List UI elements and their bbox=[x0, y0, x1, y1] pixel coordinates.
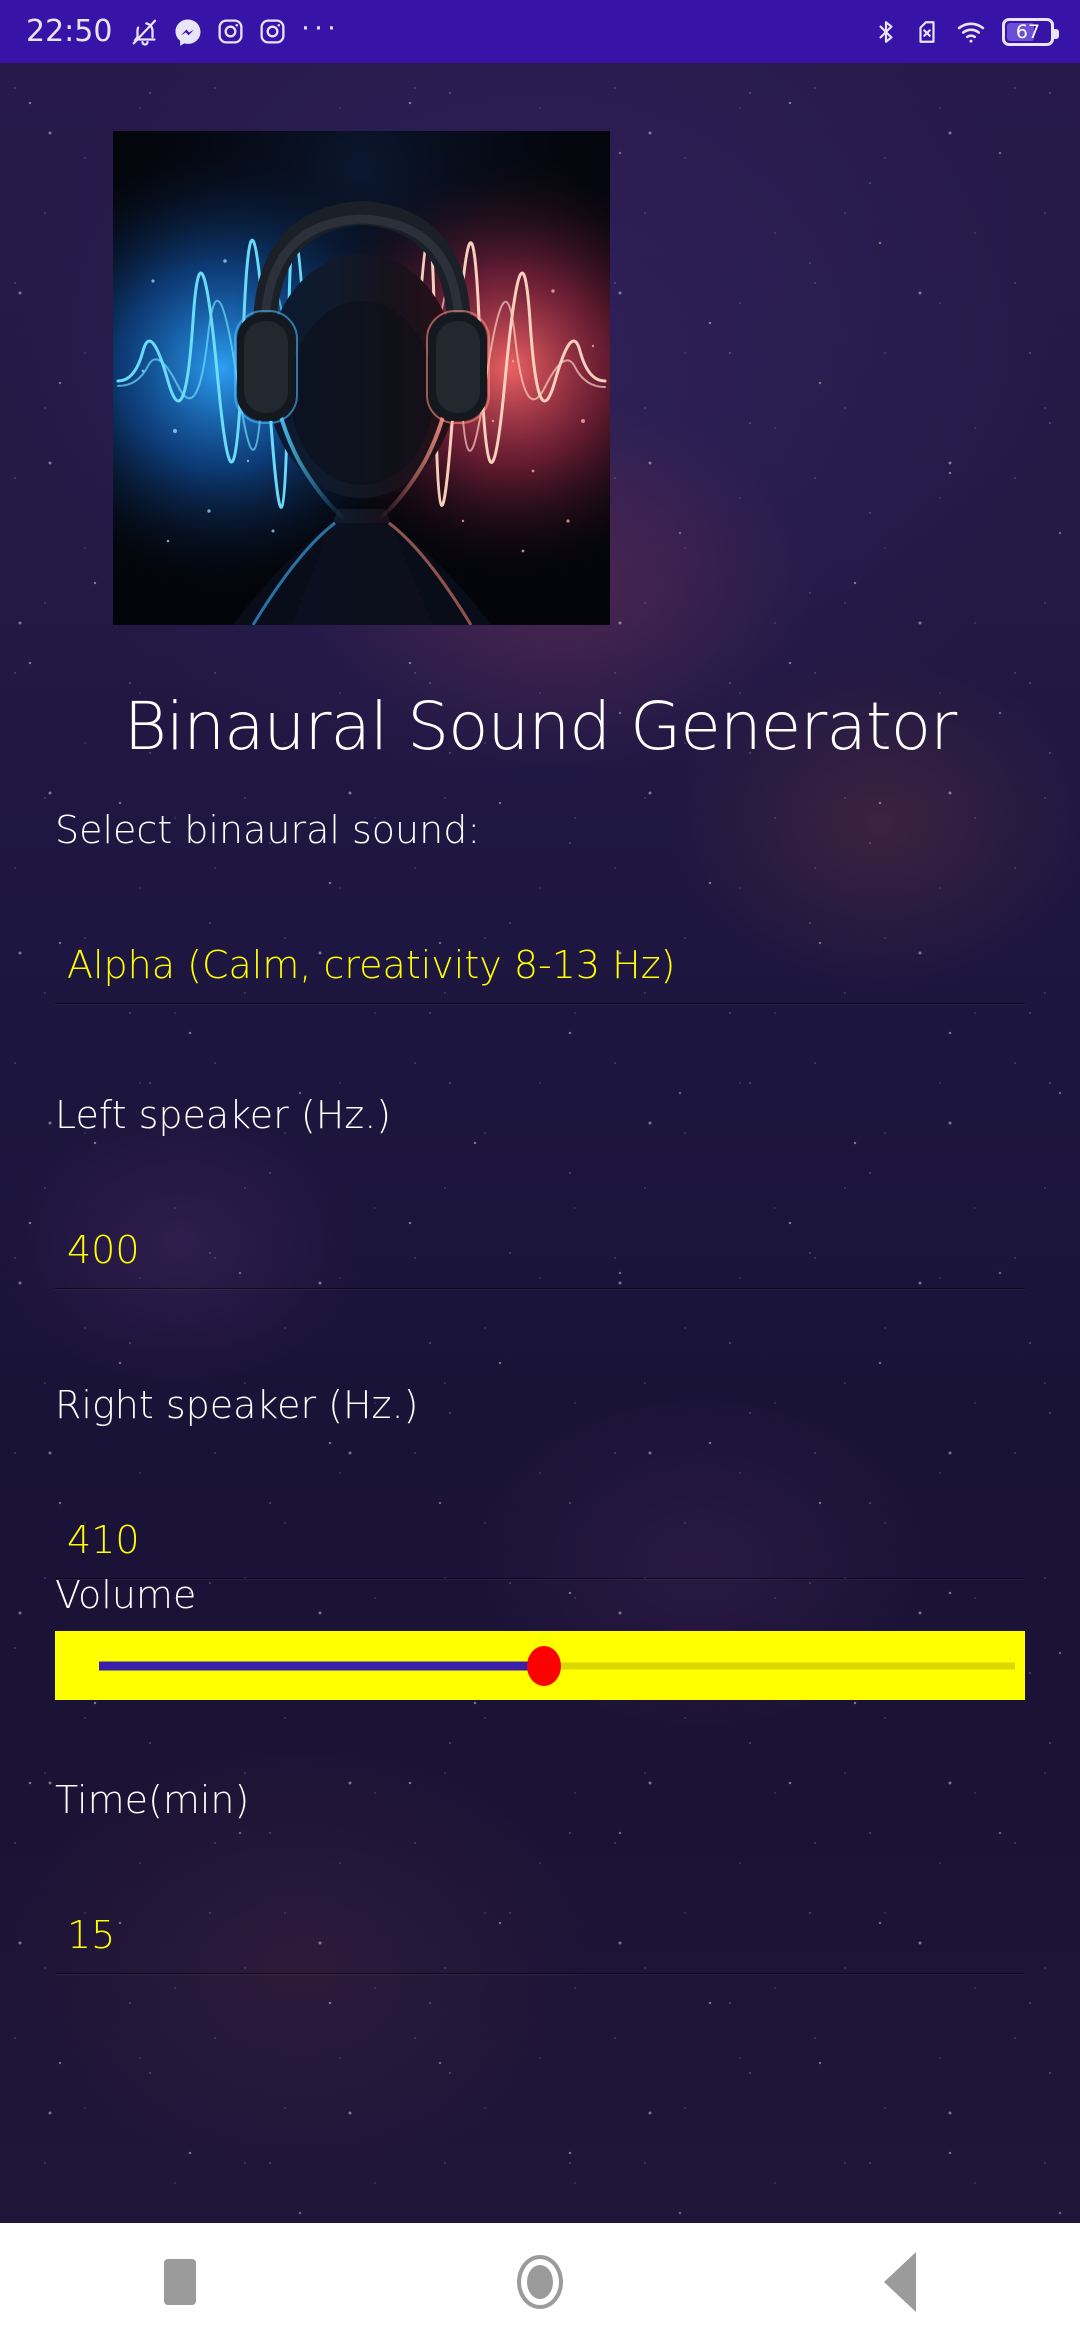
volume-slider[interactable] bbox=[55, 1631, 1025, 1700]
status-bar: 22:50 bbox=[0, 0, 1080, 63]
instagram-icon bbox=[258, 17, 287, 46]
sound-select-dropdown[interactable]: Alpha (Calm, creativity 8-13 Hz) bbox=[55, 943, 1025, 1004]
recents-square-icon bbox=[164, 2259, 196, 2305]
page-title: Binaural Sound Generator bbox=[0, 688, 1080, 765]
left-speaker-underline bbox=[55, 1288, 1025, 1289]
time-underline bbox=[55, 1973, 1025, 1974]
no-sim-icon bbox=[914, 17, 940, 47]
instagram-icon bbox=[216, 17, 245, 46]
volume-slider-thumb[interactable] bbox=[527, 1646, 561, 1686]
messenger-icon bbox=[173, 17, 203, 47]
battery-percent: 67 bbox=[1005, 21, 1051, 43]
field-sound-select: Select binaural sound: bbox=[55, 808, 1025, 852]
back-triangle-icon bbox=[884, 2252, 916, 2312]
overflow-dots-icon: ··· bbox=[300, 22, 339, 42]
home-circle-inner bbox=[527, 2265, 553, 2299]
battery-icon: 67 bbox=[1002, 18, 1054, 46]
status-bar-right: 67 bbox=[873, 17, 1054, 47]
android-nav-bar bbox=[0, 2223, 1080, 2340]
volume-track-fill bbox=[99, 1661, 535, 1670]
sound-select-label: Select binaural sound: bbox=[55, 808, 1025, 852]
field-volume: Volume bbox=[55, 1573, 1025, 1700]
time-input[interactable]: 15 bbox=[55, 1913, 1025, 1974]
left-speaker-input[interactable]: 400 bbox=[55, 1228, 1025, 1289]
bluetooth-icon bbox=[873, 17, 899, 47]
silent-bell-icon bbox=[130, 17, 160, 47]
sound-select-value[interactable]: Alpha (Calm, creativity 8-13 Hz) bbox=[55, 943, 1025, 987]
field-time: Time(min) bbox=[55, 1778, 1025, 1822]
right-speaker-value[interactable]: 410 bbox=[55, 1518, 1025, 1562]
hero-artwork-image bbox=[113, 131, 610, 625]
phone-screen: 22:50 bbox=[0, 0, 1080, 2340]
volume-label: Volume bbox=[55, 1573, 1025, 1617]
status-bar-left: 22:50 bbox=[26, 14, 339, 49]
left-speaker-label: Left speaker (Hz.) bbox=[55, 1093, 1025, 1137]
home-button[interactable] bbox=[450, 2223, 630, 2340]
recents-button[interactable] bbox=[90, 2223, 270, 2340]
wifi-icon bbox=[955, 17, 987, 47]
back-button[interactable] bbox=[810, 2223, 990, 2340]
sound-select-underline bbox=[55, 1003, 1025, 1004]
left-speaker-value[interactable]: 400 bbox=[55, 1228, 1025, 1272]
field-left-speaker: Left speaker (Hz.) bbox=[55, 1093, 1025, 1137]
right-speaker-input[interactable]: 410 bbox=[55, 1418, 1025, 1579]
time-value[interactable]: 15 bbox=[55, 1913, 1025, 1957]
home-circle-icon bbox=[517, 2255, 563, 2309]
status-clock: 22:50 bbox=[26, 14, 112, 49]
time-label: Time(min) bbox=[55, 1778, 1025, 1822]
